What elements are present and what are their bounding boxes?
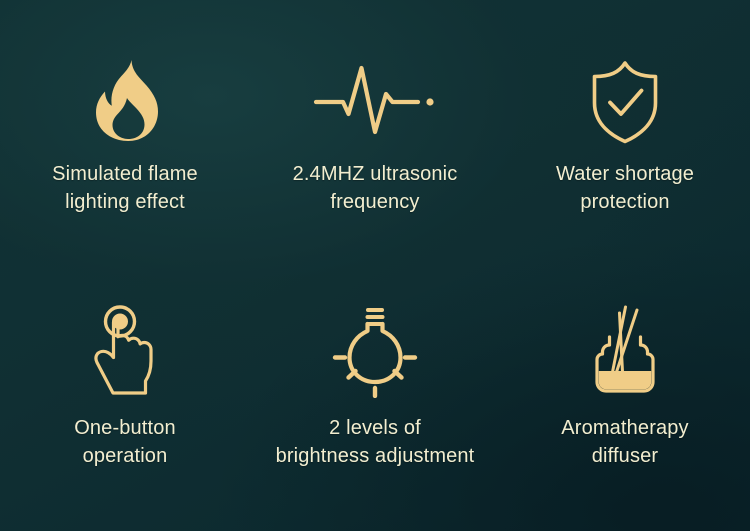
touch-hand-icon	[82, 308, 168, 394]
feature-label: One-button operation	[74, 414, 176, 470]
flame-icon	[86, 58, 164, 144]
feature-item-water-shortage-protection: Water shortage protection	[500, 0, 750, 266]
feature-label: Water shortage protection	[556, 160, 694, 216]
light-bulb-icon	[326, 308, 424, 394]
reed-diffuser-icon	[583, 308, 667, 394]
ultrasonic-waveform-icon	[312, 58, 438, 144]
feature-item-simulated-flame: Simulated flame lighting effect	[0, 0, 250, 266]
feature-label: 2.4MHZ ultrasonic frequency	[293, 160, 458, 216]
feature-item-one-button-operation: One-button operation	[0, 266, 250, 531]
feature-item-aromatherapy-diffuser: Aromatherapy diffuser	[500, 266, 750, 531]
feature-label: Aromatherapy diffuser	[561, 414, 688, 470]
feature-item-ultrasonic-frequency: 2.4MHZ ultrasonic frequency	[250, 0, 500, 266]
shield-check-icon	[586, 58, 664, 144]
feature-label: Simulated flame lighting effect	[52, 160, 198, 216]
feature-grid: Simulated flame lighting effect 2.4MHZ u…	[0, 0, 750, 531]
feature-item-brightness-adjustment: 2 levels of brightness adjustment	[250, 266, 500, 531]
feature-label: 2 levels of brightness adjustment	[276, 414, 475, 470]
